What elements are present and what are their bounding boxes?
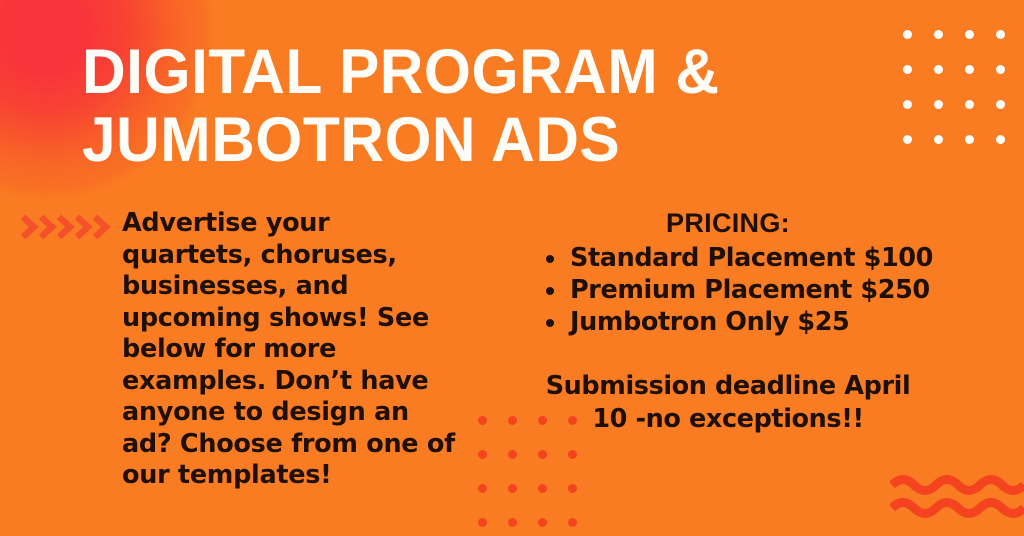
grid-dot — [538, 416, 547, 425]
grid-dot — [996, 65, 1005, 74]
list-item: Premium Placement $250 — [546, 274, 1024, 306]
grid-dot — [996, 30, 1005, 39]
page-title: Digital Program & Jumbotron Ads — [82, 38, 812, 174]
grid-dot — [903, 30, 912, 39]
grid-dot — [903, 135, 912, 144]
chevron-right-icon — [20, 211, 112, 243]
grid-dot — [903, 65, 912, 74]
grid-dot — [478, 484, 487, 493]
grid-dot — [965, 65, 974, 74]
grid-dot — [934, 30, 943, 39]
grid-dot — [568, 450, 577, 459]
grid-dot — [996, 135, 1005, 144]
dot-grid-icon — [478, 416, 598, 536]
grid-dot — [934, 135, 943, 144]
page-title-line-1: Digital Program & — [82, 38, 812, 106]
grid-dot — [996, 100, 1005, 109]
pricing-section: PRICING: Standard Placement $100 Premium… — [470, 208, 1024, 436]
grid-dot — [508, 518, 517, 527]
deadline-line-1: Submission deadline April — [470, 370, 986, 403]
dot-grid-icon — [903, 30, 1024, 170]
grid-dot — [538, 450, 547, 459]
grid-dot — [568, 518, 577, 527]
grid-dot — [538, 518, 547, 527]
grid-dot — [965, 30, 974, 39]
grid-dot — [508, 450, 517, 459]
grid-dot — [934, 100, 943, 109]
wavy-line-icon — [890, 470, 1024, 526]
pricing-list: Standard Placement $100 Premium Placemen… — [470, 242, 1024, 338]
body-copy: Advertise your quartets, choruses, busin… — [122, 208, 458, 492]
grid-dot — [478, 518, 487, 527]
grid-dot — [508, 416, 517, 425]
pricing-heading: PRICING: — [470, 208, 1024, 238]
grid-dot — [934, 65, 943, 74]
body-copy-text: Advertise your quartets, choruses, busin… — [122, 208, 458, 492]
page-title-line-2: Jumbotron Ads — [82, 106, 812, 174]
grid-dot — [478, 416, 487, 425]
grid-dot — [508, 484, 517, 493]
list-item: Standard Placement $100 — [546, 242, 1024, 274]
grid-dot — [568, 484, 577, 493]
grid-dot — [538, 484, 547, 493]
grid-dot — [965, 135, 974, 144]
list-item: Jumbotron Only $25 — [546, 306, 1024, 338]
grid-dot — [478, 450, 487, 459]
grid-dot — [965, 100, 974, 109]
grid-dot — [568, 416, 577, 425]
grid-dot — [903, 100, 912, 109]
promotional-poster: Digital Program & Jumbotron Ads Advertis… — [0, 0, 1024, 536]
